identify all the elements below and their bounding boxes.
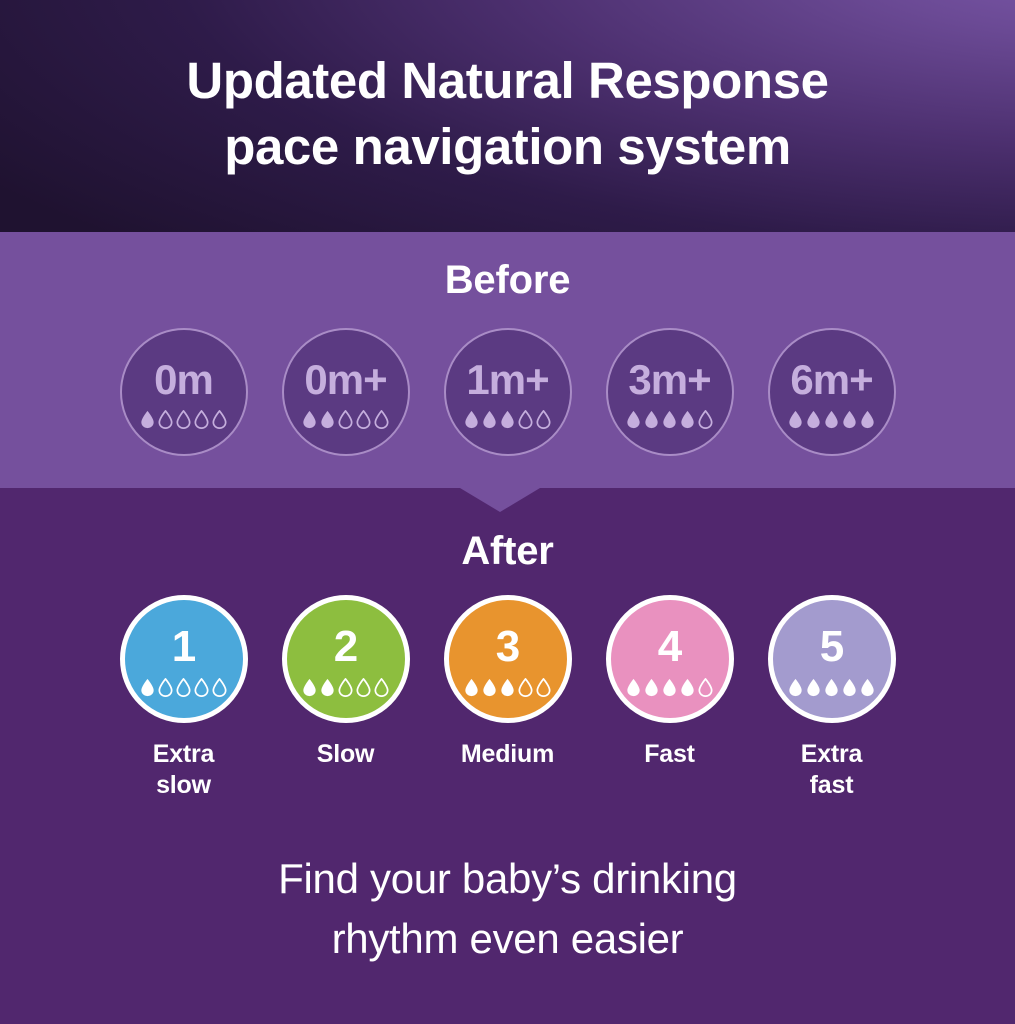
after-pace-item[interactable]: 5Extrafast: [768, 595, 896, 802]
droplet-filled-icon: [500, 410, 515, 429]
after-pace-number: 1: [172, 625, 195, 669]
droplet-outline-icon: [356, 678, 371, 697]
after-pace-name-line-1: Slow: [317, 739, 375, 770]
droplet-filled-icon: [788, 410, 803, 429]
flow-rate-droplets: [302, 678, 389, 698]
before-pace-item[interactable]: 1m+: [444, 328, 572, 456]
before-pace-circle[interactable]: 1m+: [444, 328, 572, 456]
droplet-filled-icon: [842, 410, 857, 429]
droplet-filled-icon: [644, 410, 659, 429]
droplet-filled-icon: [824, 410, 839, 429]
droplet-outline-icon: [536, 678, 551, 697]
flow-rate-droplets: [302, 410, 389, 430]
droplet-filled-icon: [140, 410, 155, 429]
after-pace-name-line-2: slow: [153, 770, 215, 801]
after-circle-row: 1Extraslow2Slow3Medium4Fast5Extrafast: [0, 595, 1015, 802]
after-pace-name: Fast: [644, 739, 695, 770]
after-pace-circle[interactable]: 4: [606, 595, 734, 723]
droplet-outline-icon: [356, 410, 371, 429]
droplet-filled-icon: [482, 410, 497, 429]
droplet-outline-icon: [158, 410, 173, 429]
before-pace-circle[interactable]: 3m+: [606, 328, 734, 456]
droplet-filled-icon: [806, 678, 821, 697]
droplet-outline-icon: [698, 410, 713, 429]
droplet-filled-icon: [320, 410, 335, 429]
droplet-outline-icon: [374, 410, 389, 429]
droplet-filled-icon: [320, 678, 335, 697]
droplet-outline-icon: [194, 410, 209, 429]
after-heading: After: [0, 529, 1015, 574]
droplet-filled-icon: [806, 410, 821, 429]
tagline-line-1: Find your baby’s drinking: [0, 849, 1015, 909]
droplet-filled-icon: [644, 678, 659, 697]
droplet-outline-icon: [518, 410, 533, 429]
droplet-outline-icon: [194, 678, 209, 697]
droplet-filled-icon: [680, 410, 695, 429]
flow-rate-droplets: [626, 678, 713, 698]
chevron-down-icon: [460, 488, 540, 512]
before-pace-circle[interactable]: 6m+: [768, 328, 896, 456]
before-age-label: 0m+: [304, 359, 386, 401]
after-pace-number: 5: [820, 625, 843, 669]
after-pace-number: 4: [658, 625, 681, 669]
pace-navigation-infographic: Updated Natural Response pace navigation…: [0, 0, 1015, 1024]
droplet-filled-icon: [842, 678, 857, 697]
flow-rate-droplets: [788, 678, 875, 698]
before-pace-circle[interactable]: 0m+: [282, 328, 410, 456]
after-pace-name: Extrafast: [801, 739, 863, 802]
droplet-filled-icon: [680, 678, 695, 697]
after-pace-item[interactable]: 4Fast: [606, 595, 734, 770]
after-pace-name-line-1: Extra: [153, 739, 215, 770]
after-pace-name-line-1: Fast: [644, 739, 695, 770]
flow-rate-droplets: [788, 410, 875, 430]
droplet-filled-icon: [302, 410, 317, 429]
droplet-outline-icon: [536, 410, 551, 429]
droplet-outline-icon: [176, 410, 191, 429]
after-pace-name: Slow: [317, 739, 375, 770]
droplet-outline-icon: [158, 678, 173, 697]
after-pace-item[interactable]: 1Extraslow: [120, 595, 248, 802]
flow-rate-droplets: [464, 678, 551, 698]
after-pace-name-line-1: Medium: [461, 739, 554, 770]
droplet-filled-icon: [860, 678, 875, 697]
before-age-label: 6m+: [790, 359, 872, 401]
after-pace-item[interactable]: 3Medium: [444, 595, 572, 770]
after-pace-number: 2: [334, 625, 357, 669]
before-age-label: 3m+: [628, 359, 710, 401]
droplet-filled-icon: [140, 678, 155, 697]
droplet-filled-icon: [824, 678, 839, 697]
before-heading: Before: [0, 258, 1015, 303]
before-pace-item[interactable]: 3m+: [606, 328, 734, 456]
flow-rate-droplets: [626, 410, 713, 430]
droplet-filled-icon: [626, 678, 641, 697]
before-age-label: 1m+: [466, 359, 548, 401]
droplet-filled-icon: [860, 410, 875, 429]
droplet-outline-icon: [698, 678, 713, 697]
droplet-filled-icon: [464, 678, 479, 697]
after-pace-circle[interactable]: 1: [120, 595, 248, 723]
droplet-outline-icon: [338, 678, 353, 697]
droplet-outline-icon: [518, 678, 533, 697]
after-pace-circle[interactable]: 5: [768, 595, 896, 723]
after-pace-name-line-2: fast: [801, 770, 863, 801]
before-pace-item[interactable]: 6m+: [768, 328, 896, 456]
flow-rate-droplets: [464, 410, 551, 430]
droplet-outline-icon: [338, 410, 353, 429]
droplet-filled-icon: [626, 410, 641, 429]
after-pace-name: Extraslow: [153, 739, 215, 802]
after-pace-number: 3: [496, 625, 519, 669]
after-pace-circle[interactable]: 2: [282, 595, 410, 723]
before-age-label: 0m: [154, 359, 213, 401]
before-pace-circle[interactable]: 0m: [120, 328, 248, 456]
droplet-filled-icon: [662, 678, 677, 697]
flow-rate-droplets: [140, 410, 227, 430]
after-pace-name: Medium: [461, 739, 554, 770]
droplet-outline-icon: [212, 410, 227, 429]
tagline-line-2: rhythm even easier: [0, 909, 1015, 969]
droplet-outline-icon: [374, 678, 389, 697]
after-pace-item[interactable]: 2Slow: [282, 595, 410, 770]
after-pace-circle[interactable]: 3: [444, 595, 572, 723]
before-circle-row: 0m0m+1m+3m+6m+: [0, 328, 1015, 456]
droplet-filled-icon: [302, 678, 317, 697]
page-title-line-2: pace navigation system: [0, 114, 1015, 180]
droplet-filled-icon: [662, 410, 677, 429]
droplet-filled-icon: [482, 678, 497, 697]
droplet-filled-icon: [464, 410, 479, 429]
after-pace-name-line-1: Extra: [801, 739, 863, 770]
droplet-outline-icon: [212, 678, 227, 697]
droplet-filled-icon: [788, 678, 803, 697]
droplet-outline-icon: [176, 678, 191, 697]
before-pace-item[interactable]: 0m+: [282, 328, 410, 456]
header-banner: Updated Natural Response pace navigation…: [0, 0, 1015, 232]
page-title-line-1: Updated Natural Response: [0, 48, 1015, 114]
flow-rate-droplets: [140, 678, 227, 698]
tagline: Find your baby’s drinking rhythm even ea…: [0, 849, 1015, 968]
before-pace-item[interactable]: 0m: [120, 328, 248, 456]
page-title: Updated Natural Response pace navigation…: [0, 48, 1015, 181]
droplet-filled-icon: [500, 678, 515, 697]
